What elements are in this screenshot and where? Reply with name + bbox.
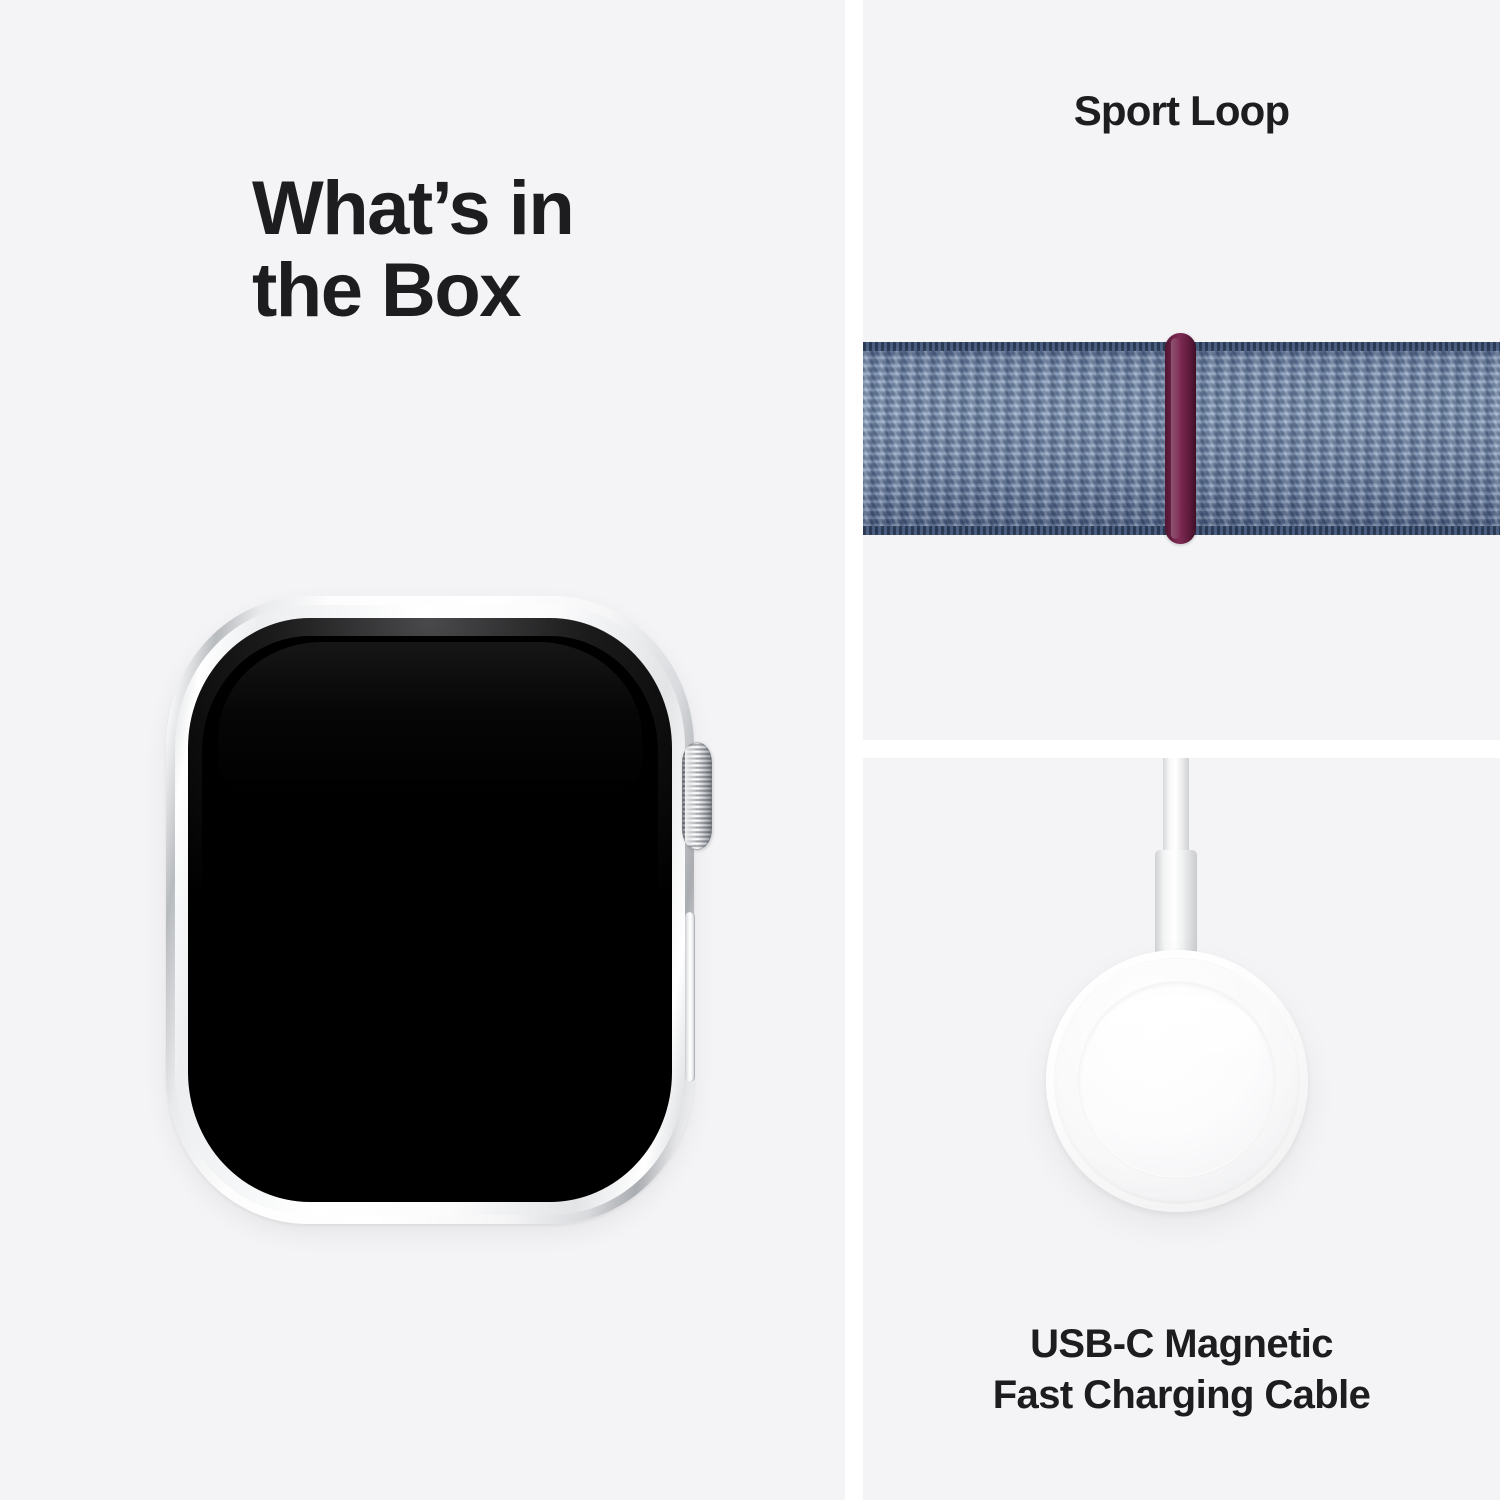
page-title-line-2: the Box — [252, 248, 520, 333]
charging-cable-panel: USB-C MagneticFast Charging Cable — [863, 758, 1500, 1500]
band-accent-stripe — [1165, 333, 1196, 544]
page-title: What’s inthe Box — [252, 168, 772, 332]
page-title-line-1: What’s in — [252, 166, 573, 251]
sport-loop-title: Sport Loop — [863, 88, 1500, 133]
watch-display-screen — [202, 636, 658, 1184]
charging-cable-product-image — [863, 758, 1500, 1378]
charging-cable-cord — [1163, 758, 1189, 854]
charging-puck-inner-pad — [1079, 982, 1275, 1178]
side-button — [685, 912, 695, 1082]
digital-crown-icon — [682, 742, 712, 850]
product-gallery-image: What’s inthe Box Sport Loop — [0, 0, 1500, 1500]
charging-cable-caption-line-1: USB-C Magnetic — [1030, 1322, 1333, 1366]
whats-in-the-box-panel: What’s inthe Box — [0, 0, 845, 1500]
charging-cable-caption-line-2: Fast Charging Cable — [993, 1373, 1371, 1417]
sport-loop-band-image — [863, 342, 1500, 535]
charging-cable-strain-relief — [1155, 850, 1197, 962]
charging-cable-caption: USB-C MagneticFast Charging Cable — [863, 1319, 1500, 1420]
apple-watch-product-image — [166, 596, 706, 1226]
sport-loop-panel: Sport Loop — [863, 0, 1500, 740]
